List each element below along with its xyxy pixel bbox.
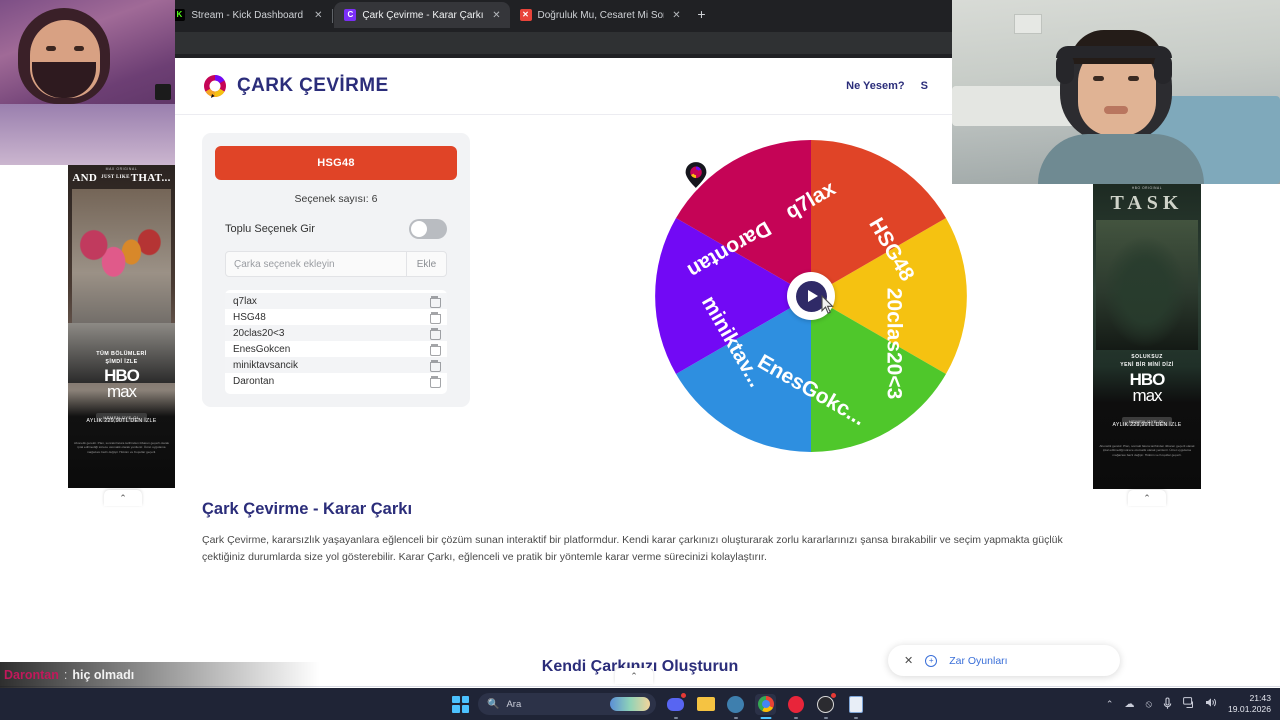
carkcevirme-logo-icon [202, 73, 228, 99]
tab-close-icon[interactable]: ✕ [490, 10, 504, 21]
search-decoration [610, 697, 650, 711]
obs-icon[interactable] [815, 694, 836, 715]
site-logo[interactable]: ÇARK ÇEVİRME [202, 73, 389, 99]
chat-separator: : [64, 668, 67, 682]
tab-close-icon[interactable]: ✕ [311, 10, 325, 21]
add-option-input[interactable] [226, 252, 406, 276]
wheel-pointer-icon [683, 160, 709, 190]
tab-label: Çark Çevirme - Karar Çarkı [362, 10, 483, 21]
notes-icon[interactable] [845, 694, 866, 715]
article-heading: Çark Çevirme - Karar Çarkı [202, 500, 1067, 519]
onedrive-icon[interactable]: ☁ [1124, 699, 1134, 710]
trash-icon[interactable] [430, 328, 439, 338]
notification-badge [830, 692, 837, 699]
trash-icon[interactable] [430, 344, 439, 354]
screen: ⌄ ▶ ubaiiiii - YouTu 🕪 ✕ K Stream - Kick… [0, 0, 1280, 720]
nav-item-ne-yesem[interactable]: Ne Yesem? [846, 80, 905, 92]
ad-network-label: HBO ORIGINAL [1093, 186, 1201, 190]
ad-fine-print: Abonelik gerekir. Plan, sonraki fatura t… [68, 441, 175, 454]
carkcevirme-icon: C [344, 9, 356, 21]
bulk-entry-toggle[interactable] [409, 219, 447, 239]
ad-banner-right[interactable]: HBO ORIGINAL TASK SOLUKSUZ YENİ BİR MİNİ… [1093, 182, 1201, 489]
option-label: EnesGokcen [233, 344, 290, 355]
list-item[interactable]: HSG48 [225, 309, 447, 325]
search-icon: 🔍 [487, 699, 499, 710]
search-input[interactable]: 🔍 Ara [478, 693, 656, 715]
clock-date: 19.01.2026 [1228, 704, 1271, 715]
list-item[interactable]: q7lax [225, 293, 447, 309]
ad-caption-1: TÜM BÖLÜMLERİ [68, 351, 175, 357]
close-icon[interactable]: ✕ [904, 654, 913, 667]
ad-collapse-right[interactable]: ⌃ [1128, 490, 1166, 506]
taskbar-clock[interactable]: 21:43 19.01.2026 [1228, 693, 1271, 714]
ad-price-label: AYLIK 229,90TL'DEN İZLE [1093, 422, 1201, 428]
ad-fine-print: Abonelik gerekir. Plan, sonraki fatura t… [1093, 444, 1201, 457]
trash-icon[interactable] [430, 376, 439, 386]
webcam-overlay-streamer-guest [0, 0, 175, 165]
wheel-control-panel: HSG48 Seçenek sayısı: 6 Toplu Seçenek Gi… [202, 133, 470, 407]
stream-chat-overlay: Darontan : hiç olmadı [0, 662, 320, 688]
chat-username: Darontan [4, 668, 59, 682]
plus-circle-icon: + [925, 655, 937, 667]
trash-icon[interactable] [430, 360, 439, 370]
ad-caption-1: SOLUKSUZ [1093, 354, 1201, 360]
taskbar-apps: 🔍 Ara [452, 693, 866, 715]
volume-icon[interactable] [1205, 697, 1217, 711]
list-item[interactable]: EnesGokcen [225, 341, 447, 357]
option-label: HSG48 [233, 312, 266, 323]
ad-price-label: AYLIK 229,90TL'DEN İZLE [68, 418, 175, 424]
option-label: miniktavsancik [233, 360, 298, 371]
add-option-button[interactable]: Ekle [406, 252, 446, 276]
option-label: q7lax [233, 296, 257, 307]
toast-label: Zar Oyunları [949, 655, 1007, 667]
system-tray: ⌃ ☁ ⦸ 21:43 19.01.2026 [1106, 693, 1280, 714]
discord-icon[interactable] [665, 694, 686, 715]
list-item[interactable]: 20clas20<3 [225, 325, 447, 341]
opera-icon[interactable] [785, 694, 806, 715]
ad-network-label: MAX ORIGINAL [68, 167, 175, 171]
new-tab-button[interactable]: + [690, 2, 714, 26]
list-item[interactable]: Darontan [225, 373, 447, 389]
truth-dare-icon: ✕ [520, 9, 532, 21]
option-list: q7lax HSG48 20clas20<3 EnesGokcen [225, 290, 447, 394]
option-label: 20clas20<3 [233, 328, 284, 339]
notification-badge [680, 692, 687, 699]
page-collapse-handle[interactable]: ⌃ [615, 668, 653, 684]
chrome-icon[interactable] [755, 694, 776, 715]
bulk-entry-label: Toplu Seçenek Gir [225, 223, 315, 235]
windows-taskbar: 🔍 Ara [0, 688, 1280, 720]
article-section: Çark Çevirme - Karar Çarkı Çark Çevirme,… [202, 500, 1067, 567]
tab-close-icon[interactable]: ✕ [670, 10, 684, 21]
add-option-row: Ekle [225, 251, 447, 277]
ad-title-a: AND [72, 172, 97, 184]
result-button[interactable]: HSG48 [215, 146, 457, 180]
clock-time: 21:43 [1228, 693, 1271, 704]
webcam-overlay-streamer-main [952, 0, 1280, 184]
option-label: Darontan [233, 376, 274, 387]
network-icon[interactable] [1183, 697, 1194, 711]
option-count-label: Seçenek sayısı: 6 [215, 180, 457, 215]
brand-title: ÇARK ÇEVİRME [237, 75, 389, 97]
ad-logo-max: max [68, 384, 175, 400]
browser-tab-kick[interactable]: K Stream - Kick Dashboard ✕ [163, 2, 331, 28]
ad-title-c: THAT... [131, 172, 171, 184]
steam-icon[interactable] [725, 694, 746, 715]
wheel-label: 20clas20<3 [883, 288, 906, 400]
browser-tab-truth-dare[interactable]: ✕ Doğruluk Mu, Cesaret Mi Sorul ✕ [510, 2, 690, 28]
nav-item-second[interactable]: S [921, 80, 928, 92]
ad-caption-2: YENİ BİR MİNİ DİZİ [1093, 362, 1201, 368]
mic-muted-icon[interactable]: ⦸ [1145, 699, 1152, 710]
article-body: Çark Çevirme, kararsızlık yaşayanlara eğ… [202, 532, 1067, 567]
search-placeholder: Ara [506, 699, 521, 710]
ad-caption-2: ŞİMDİ İZLE [68, 359, 175, 365]
show-hidden-icons[interactable]: ⌃ [1106, 699, 1114, 710]
ad-logo-max: max [1093, 388, 1201, 404]
ad-title-b: JUST LIKE [100, 176, 131, 181]
ad-title: TASK [1093, 192, 1201, 215]
chat-message: hiç olmadı [72, 668, 134, 682]
zar-oyunlari-toast[interactable]: ✕ + Zar Oyunları [888, 645, 1120, 676]
file-explorer-icon[interactable] [695, 694, 716, 715]
mouse-cursor [821, 295, 834, 319]
browser-tab-carkcevirme[interactable]: C Çark Çevirme - Karar Çarkı ✕ [334, 2, 509, 28]
tab-label: Doğruluk Mu, Cesaret Mi Sorul [538, 10, 664, 21]
kick-icon: K [173, 9, 185, 21]
tab-separator [332, 9, 333, 23]
ad-banner-left[interactable]: MAX ORIGINAL AND JUST LIKETHAT... TÜM BÖ… [68, 163, 175, 488]
start-button[interactable] [452, 696, 469, 713]
bulk-entry-row: Toplu Seçenek Gir [215, 215, 457, 251]
microphone-icon[interactable] [1163, 697, 1172, 712]
tab-label: Stream - Kick Dashboard [191, 10, 305, 21]
spin-wheel[interactable]: HSG48 20clas20<3 EnesGokc... miniktav...… [655, 140, 967, 452]
trash-icon[interactable] [430, 312, 439, 322]
ad-collapse-left[interactable]: ⌃ [104, 490, 142, 506]
trash-icon[interactable] [430, 296, 439, 306]
list-item[interactable]: miniktavsancik [225, 357, 447, 373]
